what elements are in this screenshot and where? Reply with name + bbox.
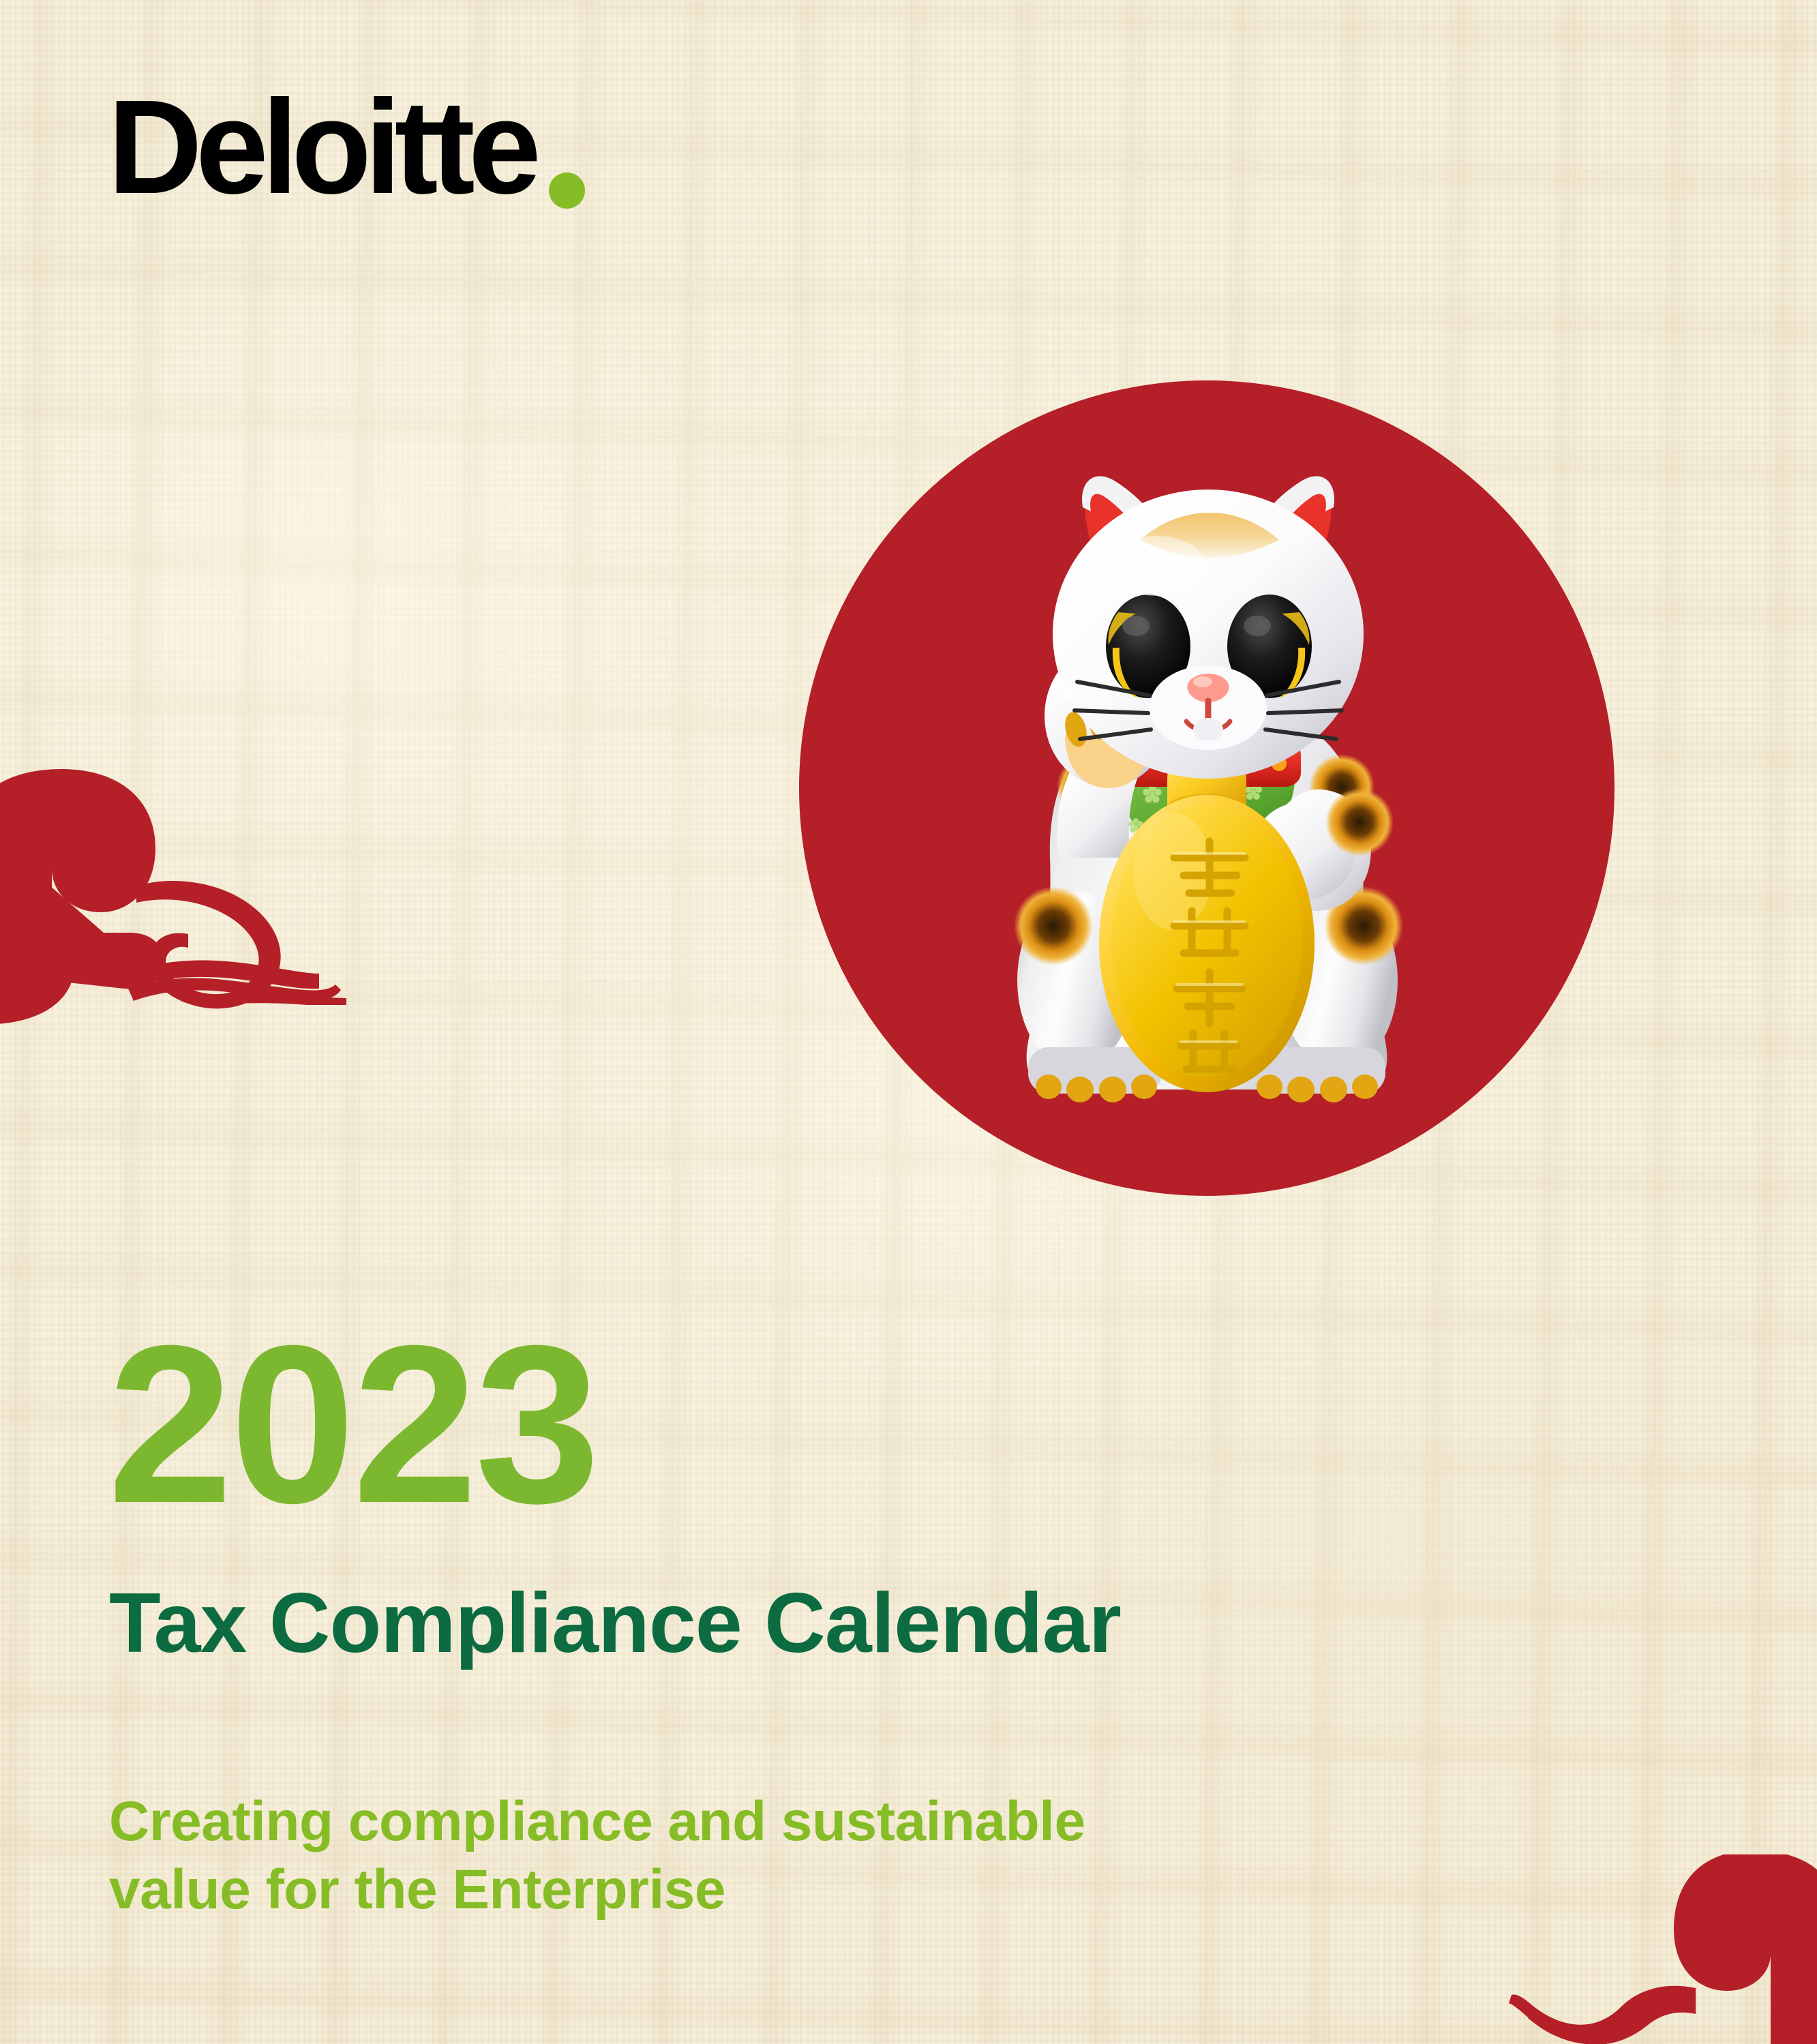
cloud-motif-left-icon xyxy=(0,749,363,1042)
cover-title: Tax Compliance Calendar xyxy=(109,1579,1121,1668)
maneki-neko-illustration xyxy=(914,380,1500,1219)
cover-year: 2023 xyxy=(108,1317,597,1531)
deloitte-logo: Deloitte xyxy=(108,80,585,214)
cover-subtitle: Creating compliance and sustainable valu… xyxy=(109,1788,1445,1924)
cover-subtitle-line-2: value for the Enterprise xyxy=(109,1856,1445,1924)
cover-subtitle-line-1: Creating compliance and sustainable xyxy=(109,1788,1445,1856)
deloitte-wordmark: Deloitte xyxy=(108,80,535,214)
cloud-motif-right-icon xyxy=(1447,1854,1817,2044)
lucky-cat-medallion xyxy=(799,380,1615,1196)
deloitte-green-dot-icon xyxy=(549,172,585,209)
calendar-cover-page: Deloitte xyxy=(0,0,1817,2044)
